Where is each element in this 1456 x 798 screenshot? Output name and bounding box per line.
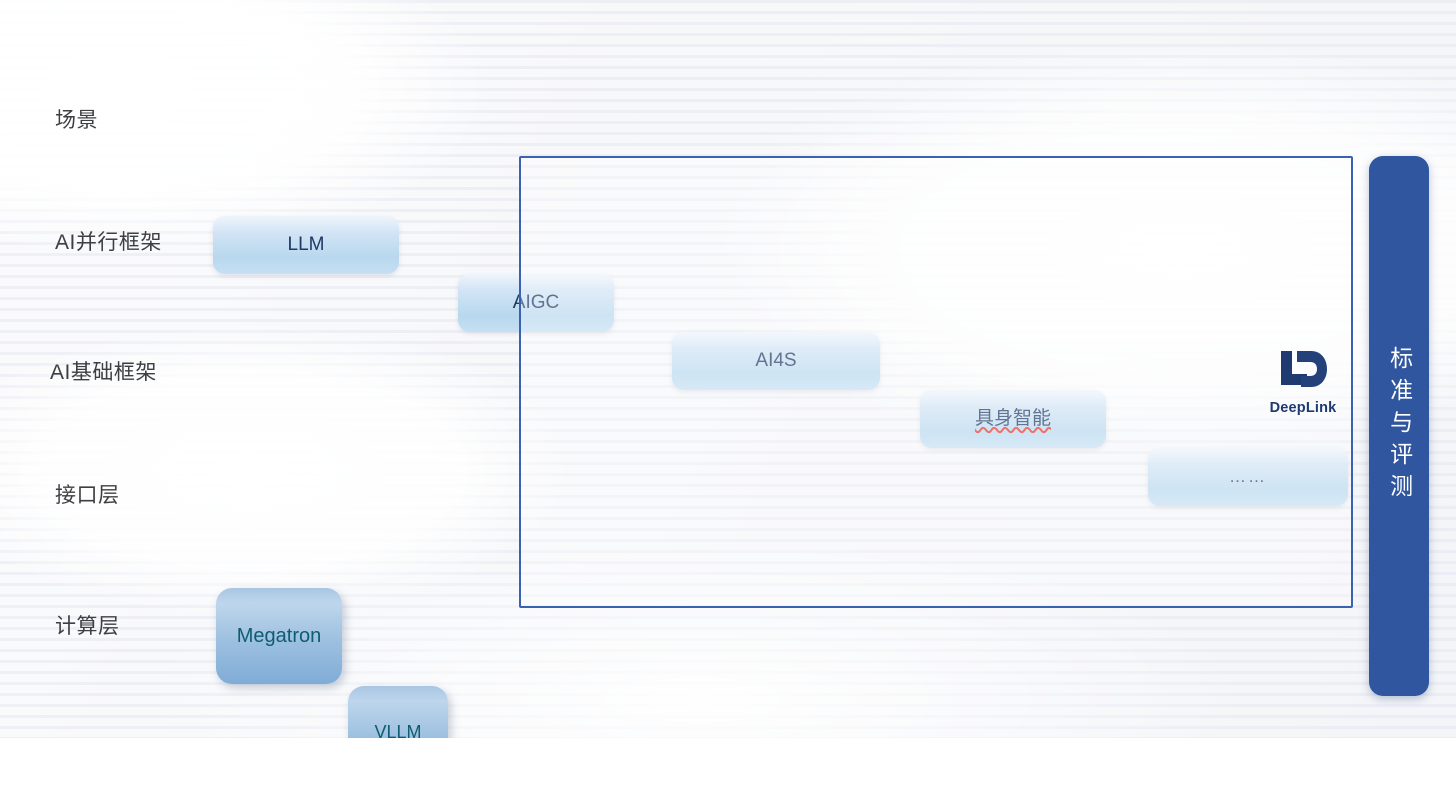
standards-evaluation-bar[interactable]: 标准与评测	[1369, 156, 1429, 696]
core-stack-frame	[519, 156, 1353, 608]
deeplink-wordmark: DeepLink	[1270, 400, 1337, 416]
slide-stage: 场景 AI并行框架 AI基础框架 接口层 计算层 芯片层 LLM AIGC AI…	[0, 0, 1456, 798]
standards-evaluation-bar-label: 标准与评测	[1386, 346, 1411, 506]
diagram-canvas: 场景 AI并行框架 AI基础框架 接口层 计算层 芯片层 LLM AIGC AI…	[0, 0, 1456, 738]
stack-box-megatron[interactable]: Megatron	[216, 588, 342, 684]
row-label-scene: 场景	[55, 110, 1456, 131]
scene-box-llm[interactable]: LLM	[213, 216, 399, 274]
stack-box-megatron-label: Megatron	[237, 624, 322, 648]
deeplink-monogram-icon	[1277, 349, 1329, 395]
stack-box-vllm[interactable]: VLLM	[348, 686, 448, 738]
scene-box-llm-label: LLM	[288, 234, 325, 257]
deeplink-logo: DeepLink	[1264, 346, 1342, 418]
stack-box-vllm-label: VLLM	[374, 722, 421, 738]
